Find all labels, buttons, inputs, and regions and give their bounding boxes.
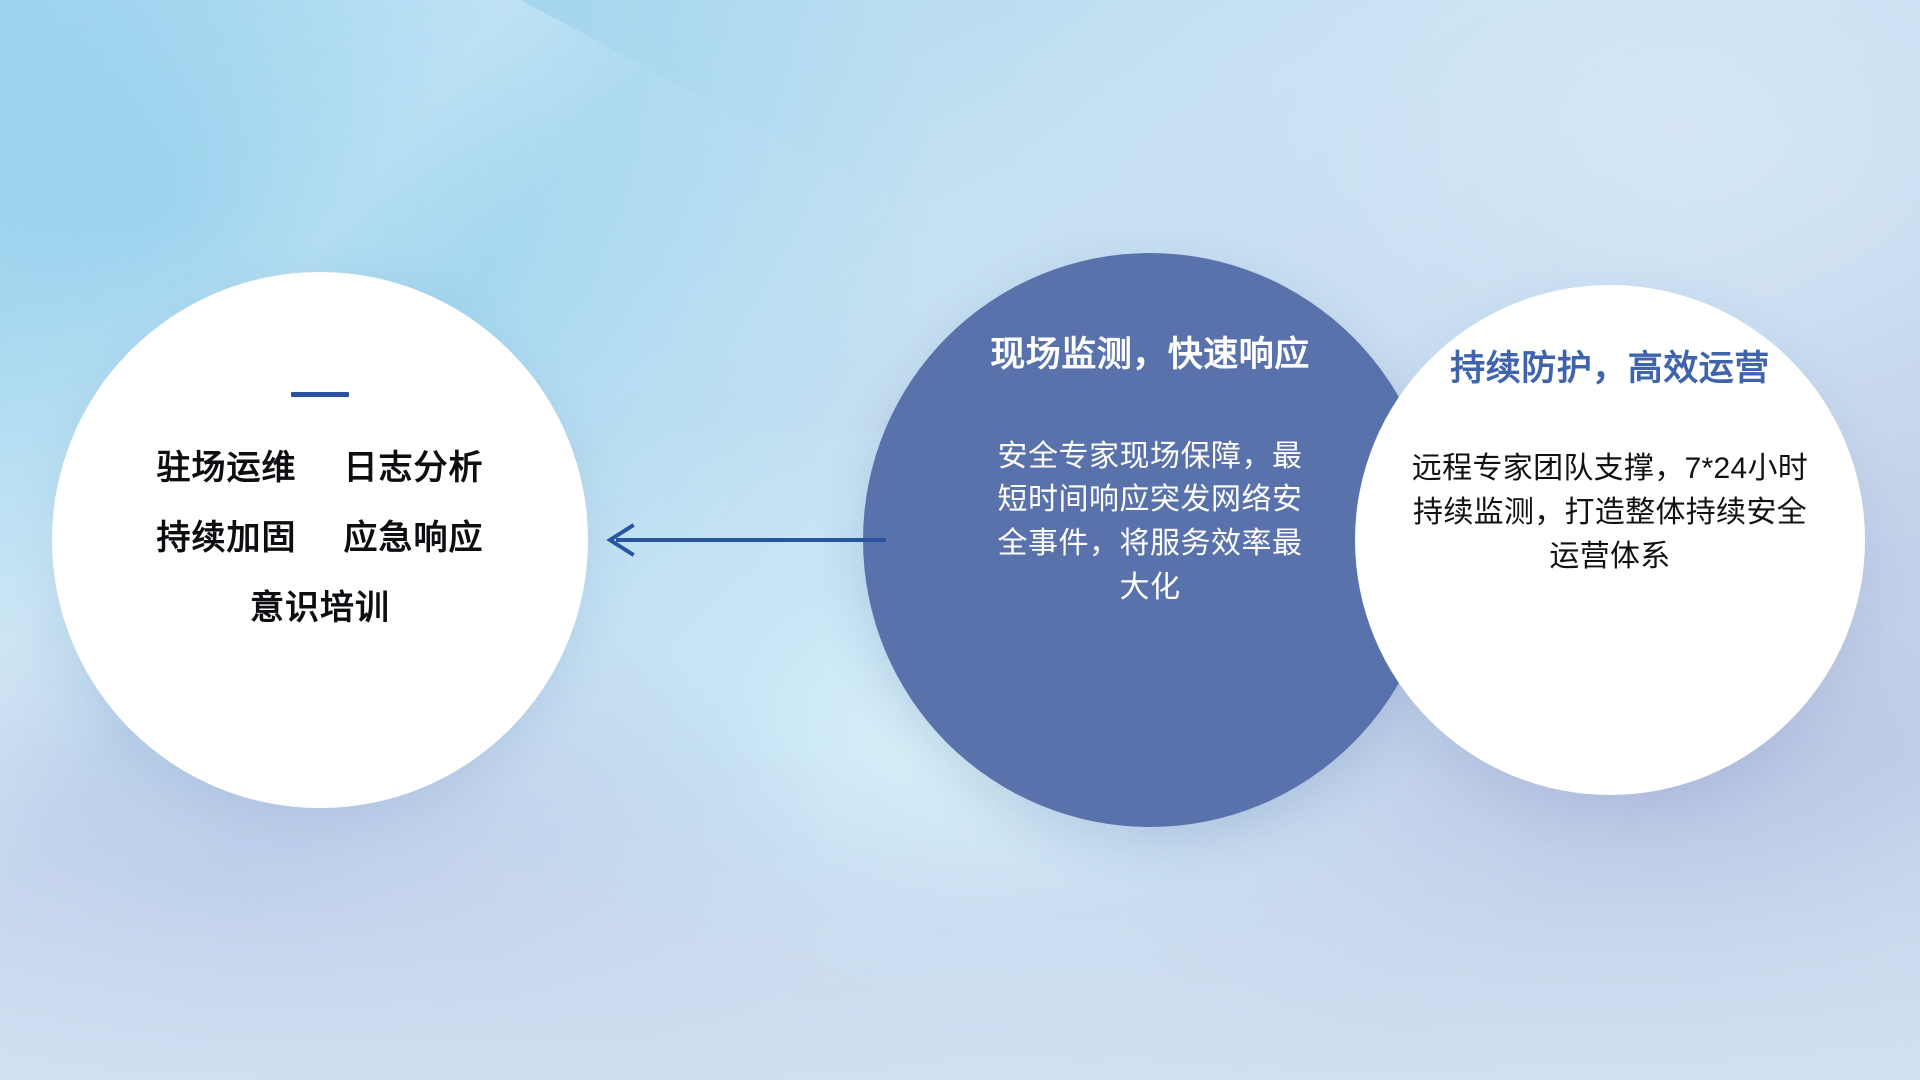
capability-row: 意识培训 [52,591,588,625]
onsite-response-body: 安全专家现场保障，最短时间响应突发网络安全事件，将服务效率最大化 [990,435,1310,610]
arrow-left-icon [590,505,890,575]
onsite-response-title: 现场监测，快速响应 [990,336,1310,375]
capability-label: 日志分析 [343,449,483,487]
continuous-operations-circle: 持续防护，高效运营 远程专家团队支撑，7*24小时持续监测，打造整体持续安全运营… [1355,285,1865,795]
capabilities-list: 驻场运维 日志分析 持续加固 应急响应 意识培训 [52,451,588,625]
capability-label: 驻场运维 [157,449,297,487]
slide-canvas: 驻场运维 日志分析 持续加固 应急响应 意识培训 现场监测，快速响应 安全专家现… [0,0,1920,1080]
continuous-operations-content: 持续防护，高效运营 远程专家团队支撑，7*24小时持续监测，打造整体持续安全运营… [1355,285,1865,795]
horizontal-dash-icon [291,392,349,397]
capability-row: 持续加固 应急响应 [52,521,588,555]
capabilities-circle: 驻场运维 日志分析 持续加固 应急响应 意识培训 [52,272,588,808]
capability-label: 意识培训 [250,589,390,627]
onsite-response-circle: 现场监测，快速响应 安全专家现场保障，最短时间响应突发网络安全事件，将服务效率最… [863,253,1437,827]
capabilities-content: 驻场运维 日志分析 持续加固 应急响应 意识培训 [52,272,588,808]
continuous-operations-body: 远程专家团队支撑，7*24小时持续监测，打造整体持续安全运营体系 [1400,447,1820,580]
continuous-operations-title: 持续防护，高效运营 [1450,350,1770,389]
capability-label: 应急响应 [343,519,483,557]
capability-label: 持续加固 [157,519,297,557]
onsite-response-content: 现场监测，快速响应 安全专家现场保障，最短时间响应突发网络安全事件，将服务效率最… [863,253,1437,827]
capability-row: 驻场运维 日志分析 [52,451,588,485]
